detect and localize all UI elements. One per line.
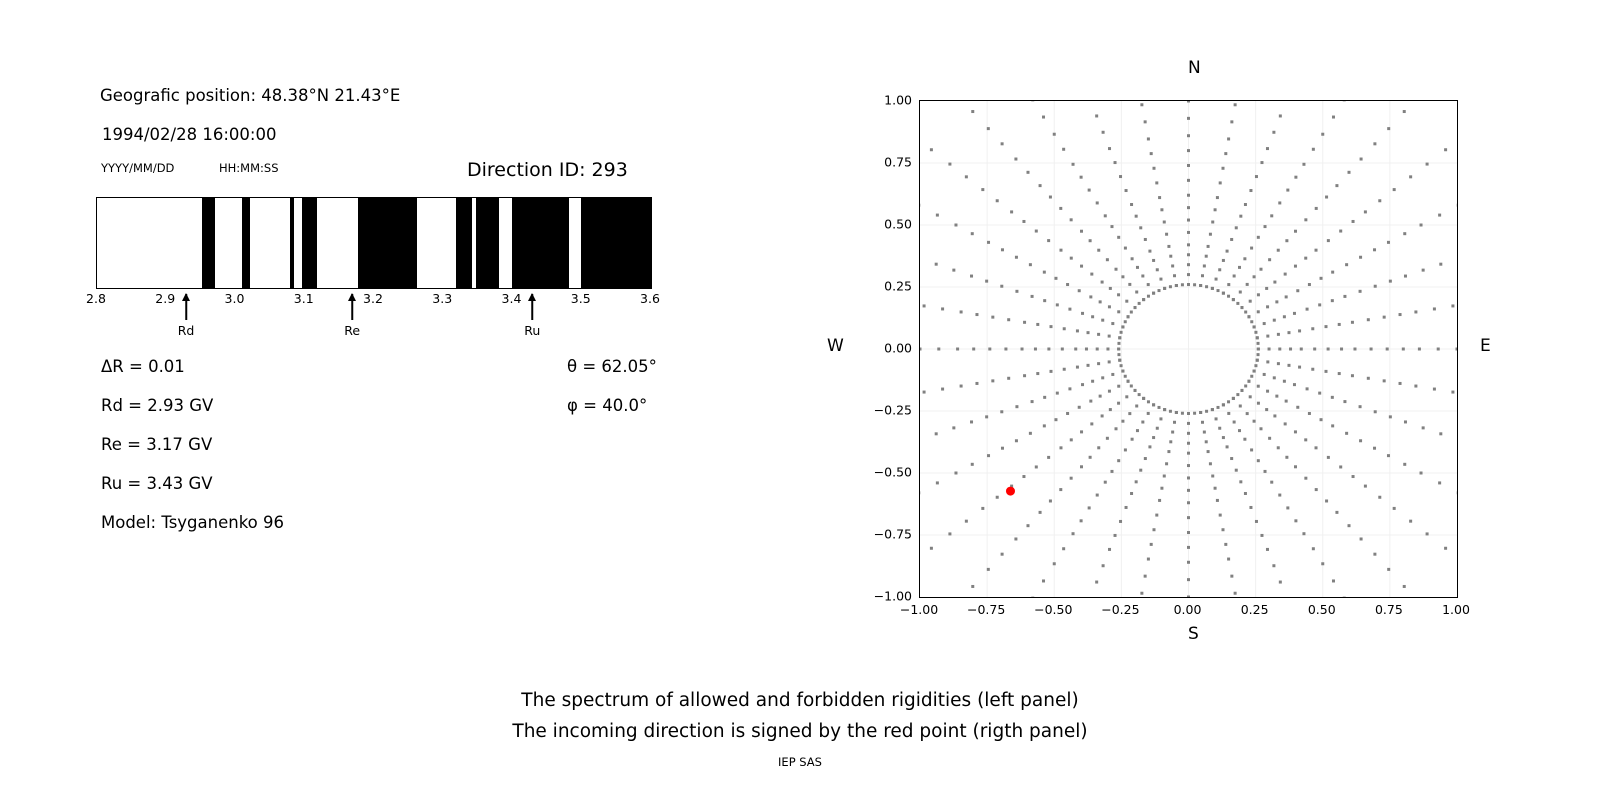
scatter-point bbox=[987, 241, 990, 244]
caption-line-2: The incoming direction is signed by the … bbox=[0, 716, 1600, 747]
scatter-point bbox=[1099, 300, 1102, 303]
scatter-point bbox=[1102, 564, 1105, 567]
scatter-point bbox=[1144, 575, 1147, 578]
scatter-point bbox=[960, 385, 963, 388]
scatter-point bbox=[1294, 465, 1297, 468]
scatter-point bbox=[1187, 442, 1190, 445]
scatter-point bbox=[1128, 412, 1131, 415]
scatter-point bbox=[1167, 450, 1170, 453]
scatter-point bbox=[1153, 167, 1156, 170]
scatter-point bbox=[1257, 310, 1260, 313]
scatter-point bbox=[1359, 439, 1362, 442]
scatter-point bbox=[1121, 420, 1124, 423]
scatter-point bbox=[1141, 274, 1144, 277]
scatter-point bbox=[1124, 448, 1127, 451]
scatter-point bbox=[981, 188, 984, 191]
scatter-point bbox=[1159, 417, 1162, 420]
scatter-point bbox=[1222, 403, 1225, 406]
scatter-point bbox=[1187, 206, 1190, 209]
scatter-point bbox=[1325, 325, 1328, 328]
scatter-point bbox=[981, 507, 984, 510]
scatter-point bbox=[1147, 283, 1150, 286]
scatter-point bbox=[1101, 414, 1104, 417]
geographic-position-label: Geografic position: 48.38°N 21.43°E bbox=[100, 86, 400, 105]
scatter-point bbox=[1042, 116, 1045, 119]
scatter-point bbox=[1187, 273, 1190, 276]
scatter-point bbox=[1131, 257, 1134, 260]
scatter-point bbox=[1110, 225, 1113, 228]
scatter-point bbox=[1147, 400, 1150, 403]
direction-map-x-tick-label: −0.25 bbox=[1101, 602, 1139, 617]
scatter-point bbox=[1224, 152, 1227, 155]
scatter-point bbox=[1120, 364, 1123, 367]
scatter-point bbox=[975, 313, 978, 316]
rigidity-tick-label: 3.0 bbox=[225, 291, 245, 306]
scatter-point bbox=[1289, 348, 1292, 351]
scatter-point bbox=[1117, 402, 1120, 405]
scatter-point bbox=[1042, 579, 1045, 582]
scatter-point bbox=[1227, 558, 1230, 561]
scatter-point bbox=[1247, 380, 1250, 383]
direction-map-y-ticks: −1.00−0.75−0.50−0.250.000.250.500.751.00 bbox=[860, 100, 912, 598]
scatter-point bbox=[1187, 596, 1190, 598]
scatter-point bbox=[971, 585, 974, 588]
scatter-point bbox=[1348, 171, 1351, 174]
scatter-point bbox=[1293, 383, 1296, 386]
scatter-point bbox=[1279, 581, 1282, 584]
scatter-point bbox=[1114, 161, 1117, 164]
scatter-point bbox=[1043, 299, 1046, 302]
scatter-point bbox=[1426, 532, 1429, 535]
scatter-point bbox=[985, 415, 988, 418]
scatter-point bbox=[1312, 148, 1315, 151]
scatter-point bbox=[1219, 181, 1222, 184]
scatter-point bbox=[1049, 499, 1052, 502]
rigidity-tick-label: 2.8 bbox=[86, 291, 106, 306]
scatter-point bbox=[960, 310, 963, 313]
scatter-point bbox=[1163, 287, 1166, 290]
scatter-point bbox=[1300, 348, 1303, 351]
forbidden-band bbox=[242, 198, 250, 288]
scatter-point bbox=[1244, 492, 1247, 495]
scatter-point bbox=[1001, 553, 1004, 556]
scatter-point bbox=[1351, 321, 1354, 324]
scatter-point bbox=[1054, 277, 1057, 280]
scatter-point bbox=[1239, 404, 1242, 407]
scatter-point bbox=[1155, 181, 1158, 184]
scatter-point bbox=[1173, 421, 1176, 424]
scatter-point bbox=[1230, 575, 1233, 578]
scatter-point bbox=[1266, 360, 1269, 363]
scatter-point bbox=[1239, 215, 1242, 218]
scatter-point bbox=[1433, 388, 1436, 391]
scatter-point bbox=[1240, 306, 1243, 309]
scatter-point bbox=[1277, 249, 1280, 252]
scatter-point bbox=[1420, 472, 1423, 475]
scatter-point bbox=[1201, 421, 1204, 424]
scatter-point bbox=[1273, 281, 1276, 284]
scatter-point bbox=[1153, 528, 1156, 531]
scatter-point bbox=[1187, 194, 1190, 197]
incoming-direction-point bbox=[1006, 487, 1015, 496]
scatter-point bbox=[1315, 249, 1318, 252]
scatter-point bbox=[1115, 268, 1118, 271]
scatter-point bbox=[1265, 287, 1268, 290]
scatter-point bbox=[1059, 446, 1062, 449]
scatter-point bbox=[1134, 389, 1137, 392]
scatter-point bbox=[1101, 281, 1104, 284]
scatter-point bbox=[1150, 152, 1153, 155]
scatter-point bbox=[1104, 214, 1107, 217]
scatter-point bbox=[1047, 348, 1050, 351]
direction-map-y-tick-label: −0.75 bbox=[874, 527, 912, 542]
scatter-point bbox=[988, 348, 991, 351]
scatter-point bbox=[1080, 230, 1083, 233]
scatter-point bbox=[1187, 531, 1190, 534]
scatter-point bbox=[1277, 333, 1280, 336]
scatter-point bbox=[1378, 199, 1381, 202]
scatter-point bbox=[1374, 285, 1377, 288]
scatter-point bbox=[1135, 291, 1138, 294]
scatter-point bbox=[1035, 465, 1038, 468]
scatter-point bbox=[1140, 592, 1143, 595]
scatter-point bbox=[1165, 462, 1168, 465]
scatter-point bbox=[1158, 289, 1161, 292]
scatter-point bbox=[923, 304, 926, 307]
scatter-point bbox=[1298, 366, 1301, 369]
scatter-point bbox=[1340, 348, 1343, 351]
scatter-point bbox=[1343, 295, 1346, 298]
scatter-point bbox=[1171, 264, 1174, 267]
scatter-point bbox=[1211, 475, 1214, 478]
scatter-point bbox=[954, 472, 957, 475]
scatter-point bbox=[1244, 203, 1247, 206]
scatter-point bbox=[1222, 259, 1225, 262]
scatter-point bbox=[1108, 305, 1111, 308]
scatter-point bbox=[1130, 492, 1133, 495]
scatter-point bbox=[987, 454, 990, 457]
scatter-point bbox=[991, 379, 994, 382]
scatter-point bbox=[1152, 436, 1155, 439]
scatter-point bbox=[1068, 308, 1071, 311]
scatter-point bbox=[1308, 412, 1311, 415]
scatter-point bbox=[1339, 465, 1342, 468]
scatter-point bbox=[1214, 208, 1217, 211]
scatter-point bbox=[1373, 248, 1376, 251]
scatter-point bbox=[1338, 323, 1341, 326]
direction-map-x-tick-label: 0.75 bbox=[1375, 602, 1403, 617]
scatter-point bbox=[1117, 310, 1120, 313]
scatter-point bbox=[1257, 402, 1260, 405]
rigidity-spectrum-panel: Geografic position: 48.38°N 21.43°E 1994… bbox=[0, 0, 760, 660]
scatter-point bbox=[1199, 284, 1202, 287]
scatter-point bbox=[1203, 264, 1206, 267]
scatter-point bbox=[1187, 578, 1190, 581]
scatter-point bbox=[1444, 148, 1447, 151]
arrow-up-icon bbox=[182, 293, 190, 301]
rigidity-tick-label: 3.6 bbox=[640, 291, 660, 306]
scatter-point bbox=[1331, 396, 1334, 399]
scatter-point bbox=[1158, 196, 1161, 199]
scatter-point bbox=[1232, 298, 1235, 301]
scatter-point bbox=[1053, 562, 1056, 565]
scatter-point bbox=[1367, 318, 1370, 321]
scatter-point bbox=[1216, 196, 1219, 199]
scatter-point bbox=[1239, 291, 1242, 294]
scatter-point bbox=[1257, 385, 1260, 388]
scatter-point bbox=[936, 481, 939, 484]
scatter-point bbox=[1236, 393, 1239, 396]
scatter-point bbox=[1101, 376, 1104, 379]
scatter-point bbox=[941, 388, 944, 391]
arrow-up-icon bbox=[348, 293, 356, 301]
scatter-point bbox=[1059, 249, 1062, 252]
scatter-point bbox=[1393, 507, 1396, 510]
scatter-point bbox=[1418, 348, 1421, 351]
scatter-point bbox=[1402, 348, 1405, 351]
scatter-point bbox=[1249, 395, 1252, 398]
scatter-point bbox=[1387, 454, 1390, 457]
scatter-point bbox=[1250, 247, 1253, 250]
scatter-point bbox=[996, 496, 999, 499]
scatter-point bbox=[1332, 579, 1335, 582]
scatter-point bbox=[1169, 410, 1172, 413]
scatter-point bbox=[1068, 387, 1071, 390]
scatter-point bbox=[1043, 424, 1046, 427]
scatter-point bbox=[1403, 585, 1406, 588]
scatter-point bbox=[1320, 277, 1323, 280]
scatter-point bbox=[1399, 313, 1402, 316]
scatter-point bbox=[1106, 258, 1109, 261]
scatter-point bbox=[1147, 412, 1150, 415]
scatter-point bbox=[985, 280, 988, 283]
scatter-point bbox=[1205, 410, 1208, 413]
scatter-point bbox=[1257, 293, 1260, 296]
scatter-point bbox=[1308, 283, 1311, 286]
scatter-point bbox=[1160, 487, 1163, 490]
scatter-point bbox=[1253, 370, 1256, 373]
scatter-point bbox=[1360, 537, 1363, 540]
scatter-point bbox=[1187, 134, 1190, 137]
scatter-point bbox=[1294, 430, 1297, 433]
scatter-point bbox=[1187, 464, 1190, 467]
scatter-point bbox=[1327, 239, 1330, 242]
scatter-point bbox=[1272, 564, 1275, 567]
scatter-point bbox=[1007, 377, 1010, 380]
scatter-point bbox=[952, 269, 955, 272]
scatter-point bbox=[1187, 283, 1190, 286]
direction-map-y-tick-label: 0.50 bbox=[884, 217, 912, 232]
scatter-point bbox=[1138, 302, 1141, 305]
scatter-point bbox=[1286, 189, 1289, 192]
scatter-point bbox=[1325, 499, 1328, 502]
scatter-point bbox=[1266, 335, 1269, 338]
scatter-point bbox=[1099, 395, 1102, 398]
scatter-point bbox=[1181, 412, 1184, 415]
scatter-point bbox=[1106, 437, 1109, 440]
scatter-point bbox=[1285, 456, 1288, 459]
scatter-point bbox=[1222, 528, 1225, 531]
scatter-point bbox=[1439, 263, 1442, 266]
scatter-point bbox=[1320, 418, 1323, 421]
scatter-point bbox=[1056, 392, 1059, 395]
scatter-point bbox=[1090, 422, 1093, 425]
scatter-point bbox=[1135, 404, 1138, 407]
scatter-point bbox=[1080, 265, 1083, 268]
scatter-point bbox=[1097, 333, 1100, 336]
scatter-point bbox=[1109, 408, 1112, 411]
scatter-point bbox=[1010, 210, 1013, 213]
scatter-point bbox=[1043, 271, 1046, 274]
scatter-point bbox=[1035, 230, 1038, 233]
scatter-point bbox=[1070, 257, 1073, 260]
scatter-point bbox=[1287, 331, 1290, 334]
scatter-point bbox=[1264, 470, 1267, 473]
scatter-point bbox=[1036, 323, 1039, 326]
direction-map-x-tick-label: 1.00 bbox=[1442, 602, 1470, 617]
scatter-point bbox=[1306, 387, 1309, 390]
scatter-point bbox=[1118, 336, 1121, 339]
param-re: Re = 3.17 GV bbox=[101, 435, 212, 454]
scatter-point bbox=[972, 348, 975, 351]
scatter-point bbox=[1311, 327, 1314, 330]
scatter-point bbox=[1156, 268, 1159, 271]
compass-label-west: W bbox=[827, 336, 844, 356]
scatter-point bbox=[1219, 514, 1222, 517]
scatter-point bbox=[1247, 315, 1250, 318]
scatter-point bbox=[1036, 372, 1039, 375]
scatter-point bbox=[1211, 408, 1214, 411]
scatter-point bbox=[1047, 239, 1050, 242]
scatter-point bbox=[1218, 268, 1221, 271]
scatter-point bbox=[971, 232, 974, 235]
scatter-point bbox=[1136, 429, 1139, 432]
scatter-point bbox=[1277, 446, 1280, 449]
scatter-point bbox=[1140, 103, 1143, 106]
scatter-point bbox=[1226, 445, 1229, 448]
scatter-point bbox=[948, 163, 951, 166]
scatter-point bbox=[1266, 305, 1269, 308]
scatter-point bbox=[1209, 462, 1212, 465]
scatter-point bbox=[1187, 476, 1190, 479]
scatter-point bbox=[1128, 283, 1131, 286]
scatter-point bbox=[1110, 470, 1113, 473]
scatter-point bbox=[1217, 289, 1220, 292]
scatter-point bbox=[1230, 457, 1233, 460]
scatter-point bbox=[1000, 410, 1003, 413]
scatter-point bbox=[1158, 499, 1161, 502]
scatter-point bbox=[1081, 383, 1084, 386]
scatter-point bbox=[1318, 392, 1321, 395]
scatter-point bbox=[1238, 266, 1241, 269]
rigidity-tick-label: 3.3 bbox=[432, 291, 452, 306]
scatter-point bbox=[1285, 239, 1288, 242]
scatter-point bbox=[1215, 417, 1218, 420]
scatter-point bbox=[1152, 403, 1155, 406]
scatter-point bbox=[1238, 429, 1241, 432]
scatter-point bbox=[1150, 543, 1153, 546]
scatter-point bbox=[1059, 488, 1062, 491]
scatter-point bbox=[1165, 233, 1168, 236]
scatter-point bbox=[1278, 201, 1281, 204]
scatter-point bbox=[1014, 158, 1017, 161]
scatter-point bbox=[1216, 499, 1219, 502]
scatter-point bbox=[1108, 360, 1111, 363]
direction-map-x-tick-label: −0.75 bbox=[967, 602, 1005, 617]
scatter-point bbox=[930, 148, 933, 151]
scatter-point bbox=[1230, 120, 1233, 123]
scatter-point bbox=[1187, 422, 1190, 425]
scatter-point bbox=[1089, 295, 1092, 298]
scatter-point bbox=[1209, 233, 1212, 236]
scatter-point bbox=[1331, 299, 1334, 302]
scatter-point bbox=[1246, 412, 1249, 415]
scatter-point bbox=[1232, 397, 1235, 400]
scatter-point bbox=[1142, 397, 1145, 400]
scatter-point bbox=[1066, 412, 1069, 415]
scatter-point bbox=[1387, 241, 1390, 244]
scatter-point bbox=[987, 568, 990, 571]
direction-map-y-tick-label: 0.25 bbox=[884, 279, 912, 294]
scatter-point bbox=[1393, 188, 1396, 191]
scatter-point bbox=[1144, 457, 1147, 460]
scatter-point bbox=[1119, 520, 1122, 523]
scatter-point bbox=[1235, 226, 1238, 229]
forbidden-band bbox=[581, 198, 651, 288]
scatter-point bbox=[1029, 263, 1032, 266]
scatter-point bbox=[1266, 390, 1269, 393]
scatter-point bbox=[1331, 424, 1334, 427]
scatter-point bbox=[1004, 348, 1007, 351]
scatter-point bbox=[1234, 103, 1237, 106]
marker-label: Rd bbox=[178, 323, 195, 338]
scatter-point bbox=[1074, 348, 1077, 351]
forbidden-band bbox=[302, 198, 317, 288]
scatter-point bbox=[1387, 127, 1390, 130]
scatter-point bbox=[1451, 304, 1454, 307]
scatter-point bbox=[1187, 149, 1190, 152]
scatter-point bbox=[1111, 322, 1114, 325]
scatter-point bbox=[1136, 266, 1139, 269]
scatter-point bbox=[1260, 161, 1263, 164]
scatter-point bbox=[1187, 432, 1190, 435]
scatter-point bbox=[1259, 427, 1262, 430]
scatter-point bbox=[1187, 501, 1190, 504]
scatter-point bbox=[1163, 475, 1166, 478]
scatter-point bbox=[1152, 292, 1155, 295]
scatter-point bbox=[1108, 147, 1111, 150]
scatter-point bbox=[1222, 436, 1225, 439]
scatter-point bbox=[1298, 329, 1301, 332]
scatter-point bbox=[1148, 445, 1151, 448]
scatter-point bbox=[1273, 414, 1276, 417]
forbidden-band bbox=[456, 198, 472, 288]
param-model: Model: Tsyganenko 96 bbox=[101, 513, 284, 532]
scatter-point bbox=[1141, 421, 1144, 424]
scatter-point bbox=[1135, 215, 1138, 218]
rigidity-tick-label: 2.9 bbox=[155, 291, 175, 306]
scatter-point bbox=[1244, 311, 1247, 314]
scatter-point bbox=[1414, 310, 1417, 313]
rigidity-tick-label: 3.1 bbox=[294, 291, 314, 306]
scatter-point bbox=[1409, 175, 1412, 178]
scatter-point bbox=[1207, 450, 1210, 453]
compass-label-east: E bbox=[1480, 336, 1491, 356]
scatter-point bbox=[1285, 295, 1288, 298]
scatter-point bbox=[1403, 232, 1406, 235]
scatter-point bbox=[1249, 506, 1252, 509]
direction-map-x-tick-label: 0.00 bbox=[1174, 602, 1202, 617]
